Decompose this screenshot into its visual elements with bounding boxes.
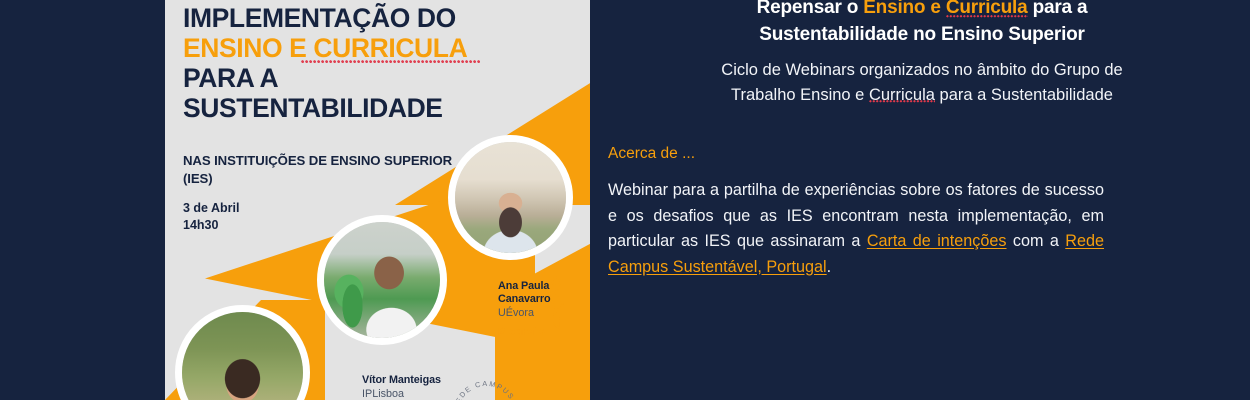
poster-title-line-1: IMPLEMENTAÇÃO DO (183, 3, 543, 33)
about-section-body: Webinar para a partilha de experiências … (608, 178, 1104, 280)
organizacao-rotated-label: ZAÇÃO (548, 275, 564, 330)
subheading-line-1: Ciclo de Webinars organizados no âmbito … (721, 61, 1122, 79)
poster-date: 3 de Abril (183, 200, 240, 217)
heading-part-2: para a (1028, 0, 1088, 18)
body-text-part-2: com a (1007, 232, 1066, 250)
webinar-heading: Repensar o Ensino e Curricula para a Sus… (608, 0, 1236, 48)
photo-image (181, 311, 304, 400)
webinar-subheading: Ciclo de Webinars organizados no âmbito … (608, 58, 1236, 108)
subheading-line-2c: para a Sustentabilidade (935, 86, 1113, 104)
poster-title: IMPLEMENTAÇÃO DO ENSINO E CURRICULA PARA… (183, 3, 543, 123)
spellcheck-underline-icon (301, 60, 481, 64)
heading-line-2: Sustentabilidade no Ensino Superior (759, 24, 1085, 45)
rede-campus-sustentavel-logo: REDE CAMPUS SUSTENTÁVEL (448, 372, 524, 400)
poster-title-line-4: SUSTENTABILIDADE (183, 93, 543, 123)
speaker-bio-link[interactable]: Biografia (498, 326, 545, 338)
heading-highlight-1: Ensino e (863, 0, 946, 18)
heading-highlight-2: Curricula (946, 0, 1028, 18)
carta-de-intencoes-link[interactable]: Carta de intenções (867, 232, 1007, 250)
speaker-photo-ana-paula-canavarro (448, 135, 573, 260)
poster-title-line-2: ENSINO E CURRICULA (183, 33, 467, 63)
body-text-part-3: . (827, 258, 832, 276)
heading-part-1: Repensar o (757, 0, 864, 18)
subheading-line-2a: Trabalho Ensino e (731, 86, 869, 104)
about-section-label: Acerca de ... (608, 145, 695, 163)
svg-text:REDE CAMPUS SUSTENTÁVEL: REDE CAMPUS SUSTENTÁVEL (448, 372, 521, 400)
speaker-photo-vitor-manteigas (317, 215, 447, 345)
photo-image (454, 141, 567, 254)
speaker-caption-ana-paula-canavarro: Ana Paula Canavarro UÉvora Biografia (498, 280, 590, 340)
speaker-name: Ana Paula Canavarro (498, 280, 590, 306)
speaker-photo-third (175, 305, 310, 400)
poster-datetime: 3 de Abril 14h30 (183, 200, 240, 233)
poster-time: 14h30 (183, 217, 240, 234)
webinar-description-panel: Repensar o Ensino e Curricula para a Sus… (590, 0, 1250, 400)
spellcheck-underline-icon (869, 100, 935, 103)
poster-title-line-3: PARA A (183, 63, 543, 93)
poster-subtitle: NAS INSTITUIÇÕES DE ENSINO SUPERIOR (IES… (183, 152, 453, 187)
speaker-org: UÉvora (498, 306, 590, 320)
webinar-announcement-page: IMPLEMENTAÇÃO DO ENSINO E CURRICULA PARA… (0, 0, 1250, 400)
subheading-line-2b: Curricula (869, 86, 935, 104)
event-poster: IMPLEMENTAÇÃO DO ENSINO E CURRICULA PARA… (165, 0, 590, 400)
photo-image (323, 221, 441, 339)
spellcheck-underline-icon (946, 15, 1028, 18)
